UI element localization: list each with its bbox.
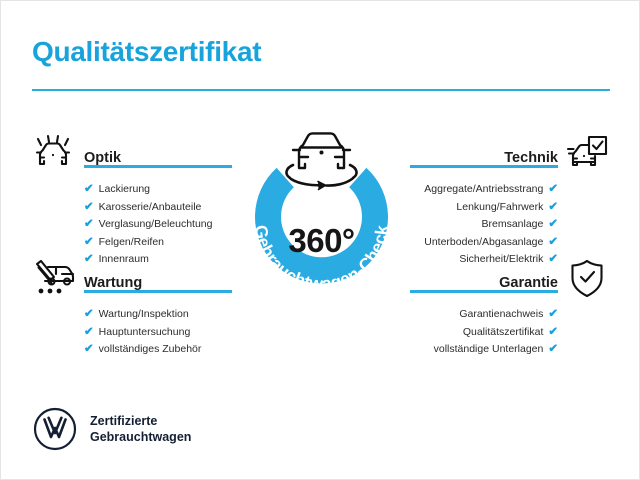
list-item-label: Lenkung/Fahrwerk (456, 199, 543, 217)
section-title-wartung: Wartung (84, 275, 142, 291)
footer-line-2: Gebrauchtwagen (90, 429, 191, 445)
list-item: Bremsanlage✔ (410, 216, 558, 234)
list-item-label: Qualitätszertifikat (463, 324, 544, 342)
list-item-label: Wartung/Inspektion (99, 306, 189, 324)
checklist-technik: Aggregate/Antriebsstrang✔ Lenkung/Fahrwe… (410, 181, 610, 269)
list-item-label: Lackierung (99, 181, 150, 199)
section-divider-garantie (410, 290, 558, 293)
check-icon: ✔ (548, 199, 558, 217)
list-item: ✔Hauptuntersuchung (84, 324, 232, 342)
section-technik: Technik Aggregate/Antriebsstrang✔ Lenkun… (410, 141, 610, 269)
section-optik: Optik ✔Lackierung ✔Karosserie/Anbauteile… (32, 141, 232, 269)
list-item-label: Felgen/Reifen (99, 234, 164, 252)
list-item: vollständige Unterlagen✔ (410, 341, 558, 359)
list-item-label: vollständige Unterlagen (434, 341, 544, 359)
section-divider-wartung (84, 290, 232, 293)
checklist-optik: ✔Lackierung ✔Karosserie/Anbauteile ✔Verg… (32, 181, 232, 269)
check-icon: ✔ (548, 341, 558, 359)
section-title-optik: Optik (84, 150, 121, 166)
check-icon: ✔ (84, 306, 94, 324)
checklist-garantie: Garantienachweis✔ Qualitätszertifikat✔ v… (410, 306, 610, 359)
section-divider-technik (410, 165, 558, 168)
list-item: ✔Verglasung/Beleuchtung (84, 216, 232, 234)
list-item: ✔Lackierung (84, 181, 232, 199)
list-item-label: Aggregate/Antriebsstrang (424, 181, 543, 199)
check-icon: ✔ (84, 199, 94, 217)
section-divider-optik (84, 165, 232, 168)
section-title-garantie: Garantie (499, 275, 558, 291)
check-icon: ✔ (84, 234, 94, 252)
list-item: ✔Felgen/Reifen (84, 234, 232, 252)
check-icon: ✔ (84, 324, 94, 342)
title-divider (32, 89, 610, 91)
check-icon: ✔ (84, 181, 94, 199)
footer-text: Zertifizierte Gebrauchtwagen (90, 413, 191, 445)
vw-logo (32, 406, 78, 452)
list-item-label: Garantienachweis (459, 306, 543, 324)
certificate-page: Qualitätszertifikat Optik ✔Lackierung ✔K… (0, 0, 640, 480)
check-icon: ✔ (548, 306, 558, 324)
list-item: ✔Wartung/Inspektion (84, 306, 232, 324)
list-item-label: vollständiges Zubehör (99, 341, 202, 359)
section-wartung: Wartung ✔Wartung/Inspektion ✔Hauptunters… (32, 266, 232, 359)
badge-value: 360° (229, 222, 414, 260)
check-icon: ✔ (84, 216, 94, 234)
check-icon: ✔ (548, 181, 558, 199)
list-item: Garantienachweis✔ (410, 306, 558, 324)
list-item: Unterboden/Abgasanlage✔ (410, 234, 558, 252)
list-item-label: Karosserie/Anbauteile (99, 199, 202, 217)
list-item: Lenkung/Fahrwerk✔ (410, 199, 558, 217)
check-icon: ✔ (548, 216, 558, 234)
list-item: Qualitätszertifikat✔ (410, 324, 558, 342)
list-item-label: Verglasung/Beleuchtung (99, 216, 213, 234)
check-icon: ✔ (84, 341, 94, 359)
check-icon: ✔ (548, 234, 558, 252)
car-rotate-icon (286, 133, 356, 189)
page-title: Qualitätszertifikat (32, 36, 261, 68)
list-item-label: Bremsanlage (481, 216, 543, 234)
list-item: Aggregate/Antriebsstrang✔ (410, 181, 558, 199)
section-garantie: Garantie Garantienachweis✔ Qualitätszert… (410, 266, 610, 359)
badge-360-gebrauchtwagen-check: Gebrauchtwagen-Check 360° (229, 119, 414, 319)
list-item-label: Unterboden/Abgasanlage (424, 234, 543, 252)
list-item: ✔Karosserie/Anbauteile (84, 199, 232, 217)
list-item: ✔vollständiges Zubehör (84, 341, 232, 359)
section-title-technik: Technik (504, 150, 558, 166)
list-item-label: Hauptuntersuchung (99, 324, 191, 342)
footer-line-1: Zertifizierte (90, 413, 191, 429)
footer-brand: Zertifizierte Gebrauchtwagen (32, 406, 191, 452)
checklist-wartung: ✔Wartung/Inspektion ✔Hauptuntersuchung ✔… (32, 306, 232, 359)
check-icon: ✔ (548, 324, 558, 342)
